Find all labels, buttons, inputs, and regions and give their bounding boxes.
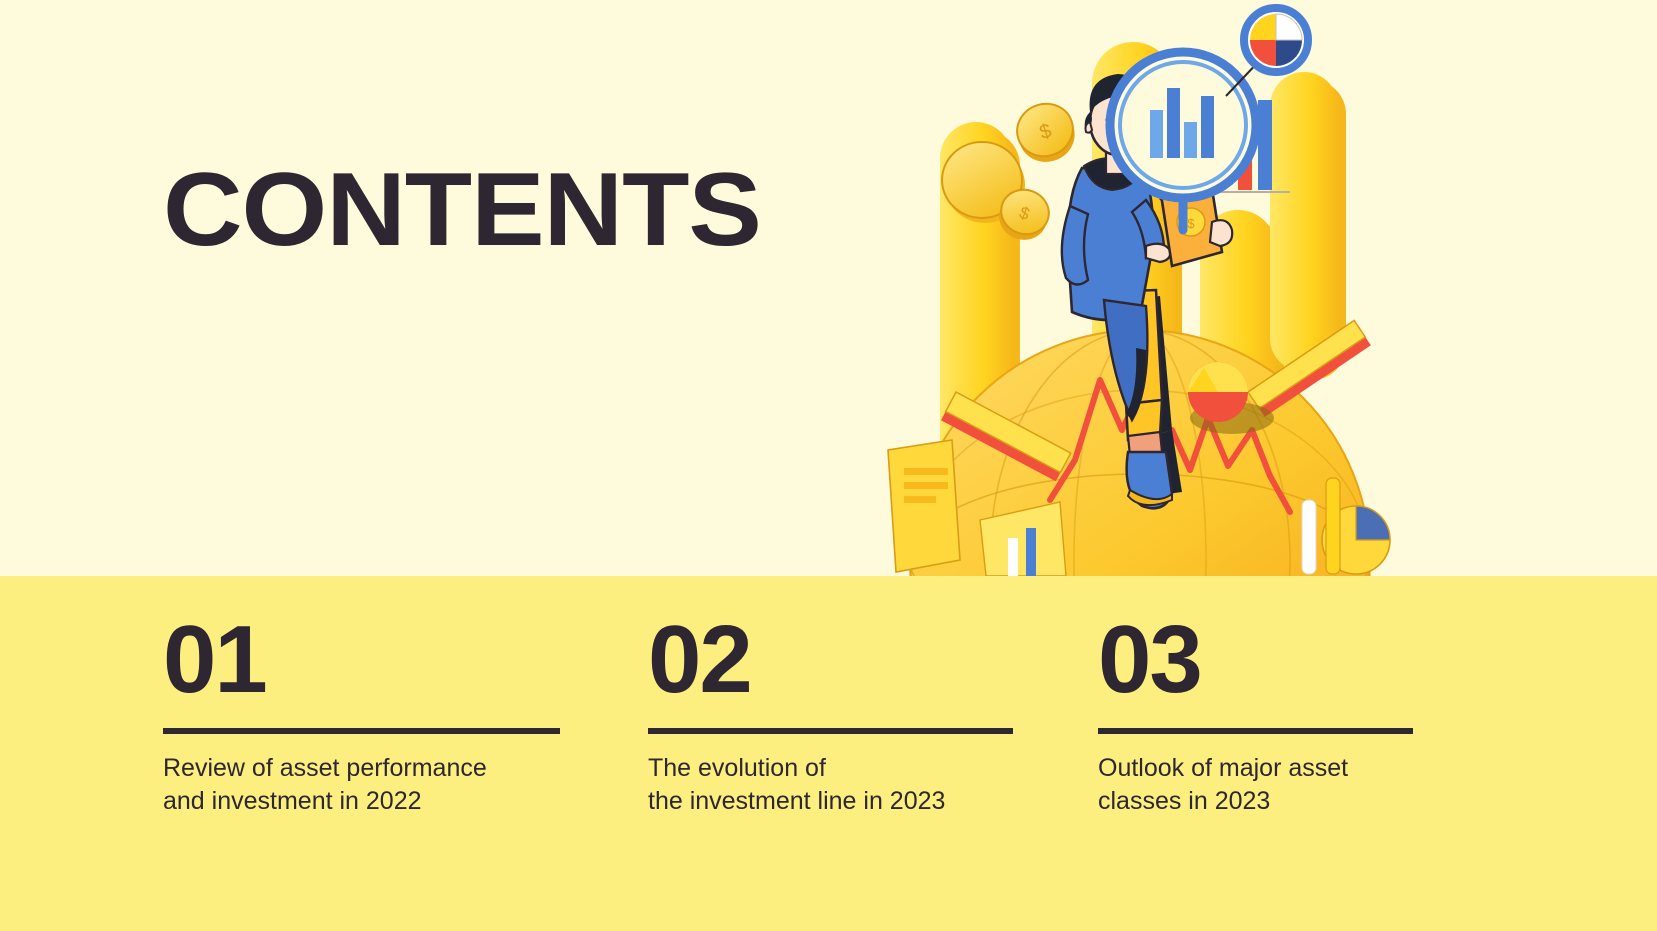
item-description: Outlook of major asset classes in 2023	[1098, 752, 1418, 819]
item-divider	[163, 728, 560, 734]
document-card	[888, 440, 960, 572]
item-number: 03	[1098, 612, 1418, 708]
contents-item-02[interactable]: 02 The evolution of the investment line …	[648, 576, 1018, 819]
svg-text:$: $	[1187, 216, 1195, 231]
item-description: Review of asset performance and investme…	[163, 752, 563, 819]
item-number: 02	[648, 612, 1018, 708]
item-description: The evolution of the investment line in …	[648, 752, 1018, 819]
investor-on-globe-illustration: $ $	[860, 0, 1460, 576]
slide-root: $ $	[0, 0, 1657, 931]
item-divider	[1098, 728, 1413, 734]
page-title: CONTENTS	[163, 158, 761, 262]
white-bar-marker	[1302, 500, 1316, 574]
contents-item-01[interactable]: 01 Review of asset performance and inves…	[163, 576, 563, 819]
yellow-bar-marker	[1326, 478, 1340, 574]
item-divider	[648, 728, 1013, 734]
item-number: 01	[163, 612, 563, 708]
contents-list: 01 Review of asset performance and inves…	[0, 576, 1657, 931]
contents-item-03[interactable]: 03 Outlook of major asset classes in 202…	[1098, 576, 1418, 819]
